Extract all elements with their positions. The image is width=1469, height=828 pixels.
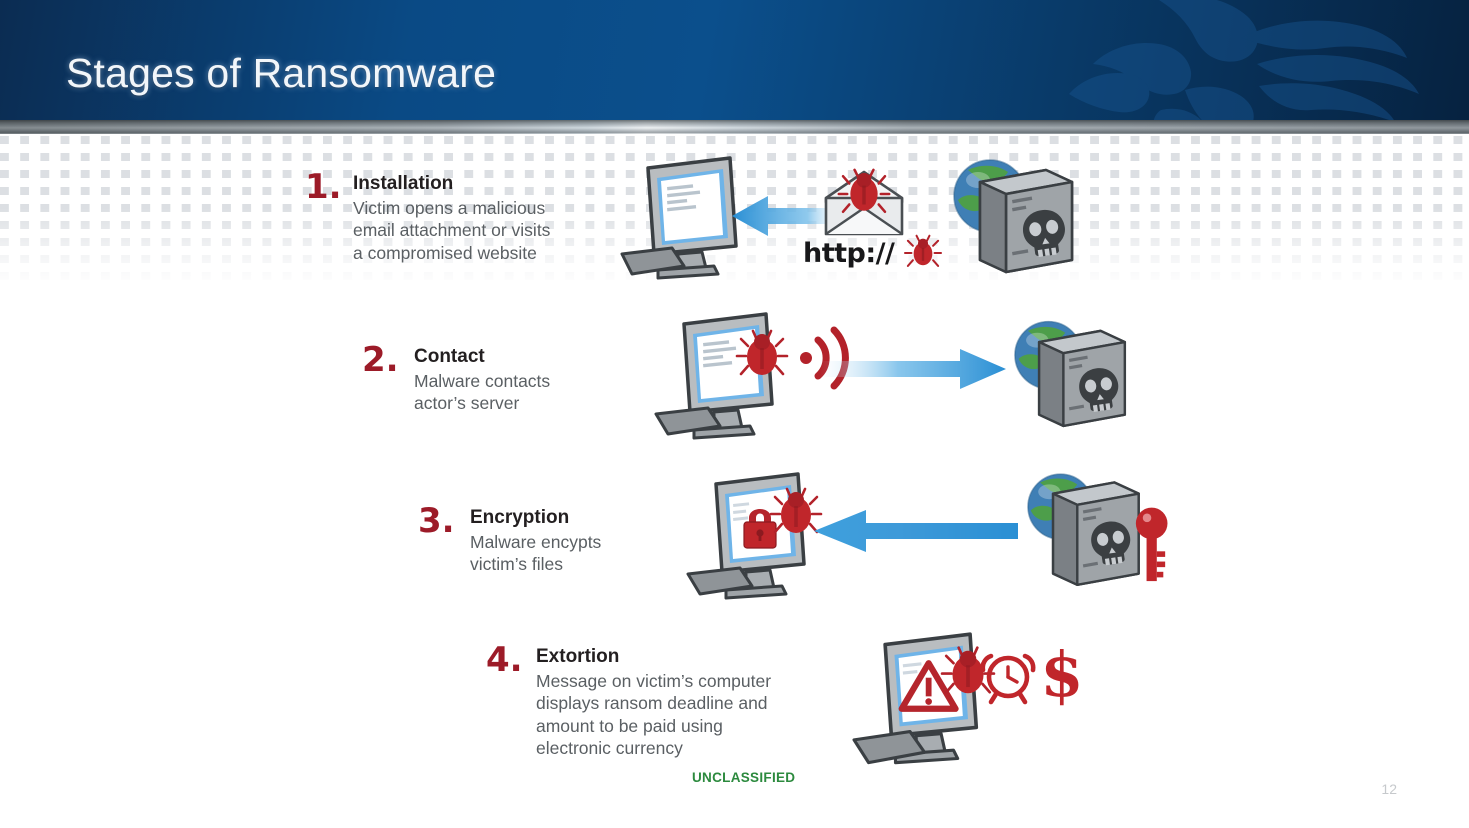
blue-arrow-right-icon [820,347,1010,391]
step-3-number: 3. [418,504,455,538]
step-4-description: Message on victim’s computer displays ra… [536,670,771,760]
attacker-server-skull-icon [1000,310,1136,430]
step-4-number: 4. [486,643,523,677]
slide-canvas: Stages of Ransomware [0,0,1469,828]
red-key-icon [1136,508,1168,581]
step-1-description: Victim opens a malicious email attachmen… [353,197,550,264]
classification-banner: UNCLASSIFIED [692,770,795,785]
step-2-number: 2. [362,343,399,377]
step-2-description: Malware contacts actor’s server [414,370,550,415]
locked-monitor-icon [684,468,824,608]
step-1-number: 1. [305,170,342,204]
header-divider-bar [0,120,1469,134]
warning-monitor-icon [852,628,997,773]
step-4-title: Extortion [536,646,771,668]
page-number: 12 [1381,781,1397,797]
svg-text:$: $ [1040,640,1083,708]
step-1-title: Installation [353,173,550,195]
alarm-clock-icon [978,644,1038,706]
attacker-server-skull-icon [938,148,1084,276]
dollar-sign-icon: $ [1038,640,1086,708]
infected-monitor-icon [652,308,792,448]
attacker-server-skull-icon [1014,462,1174,596]
page-title: Stages of Ransomware [66,50,496,97]
step-2-title: Contact [414,346,550,368]
eagle-watermark-icon [1009,0,1439,120]
slide-header: Stages of Ransomware [0,0,1469,120]
blue-arrow-left-icon [808,508,1018,554]
step-3-description: Malware encypts victim’s files [470,531,601,576]
step-3-title: Encryption [470,507,601,529]
http-bug-label: http:// [803,238,894,269]
infected-email-icon [818,168,910,240]
